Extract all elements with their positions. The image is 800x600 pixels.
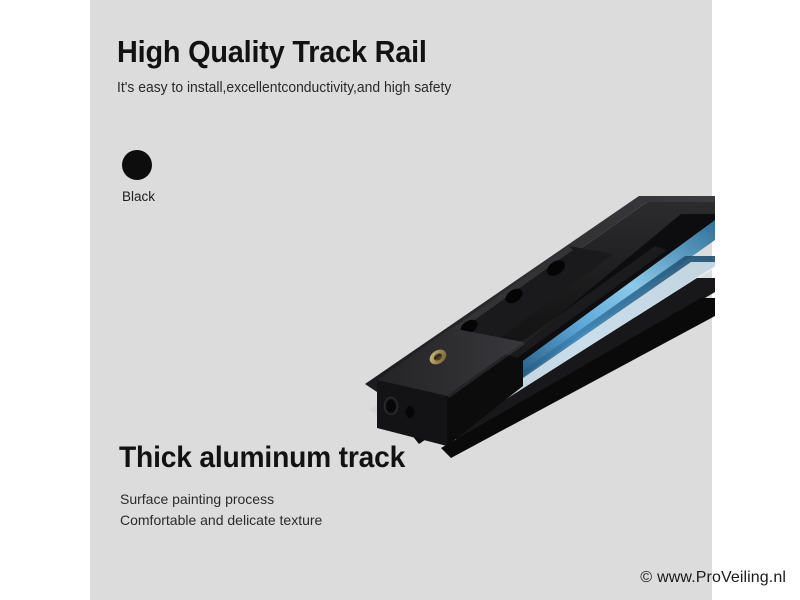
color-swatch-dot[interactable] <box>122 150 152 180</box>
color-option-black[interactable]: Black <box>122 150 155 204</box>
page-subtitle: It's easy to install,excellentconductivi… <box>117 80 451 96</box>
feature-bullet: Comfortable and delicate texture <box>120 510 322 531</box>
color-swatch-label: Black <box>122 189 155 204</box>
right-white-margin <box>712 0 800 600</box>
left-white-margin <box>0 0 90 600</box>
track-rail-photo <box>355 196 715 464</box>
watermark: © www.ProVeiling.nl <box>640 569 786 587</box>
page-title: High Quality Track Rail <box>117 36 427 69</box>
connector-port-2 <box>406 406 415 418</box>
copyright-icon: © <box>640 569 652 587</box>
connector-port-1 <box>387 400 396 412</box>
watermark-text: www.ProVeiling.nl <box>657 569 786 587</box>
feature-bullet: Surface painting process <box>120 489 322 510</box>
feature-title: Thick aluminum track <box>119 441 405 475</box>
feature-bullet-list: Surface painting process Comfortable and… <box>120 489 322 530</box>
product-banner: High Quality Track Rail It's easy to ins… <box>0 0 800 600</box>
